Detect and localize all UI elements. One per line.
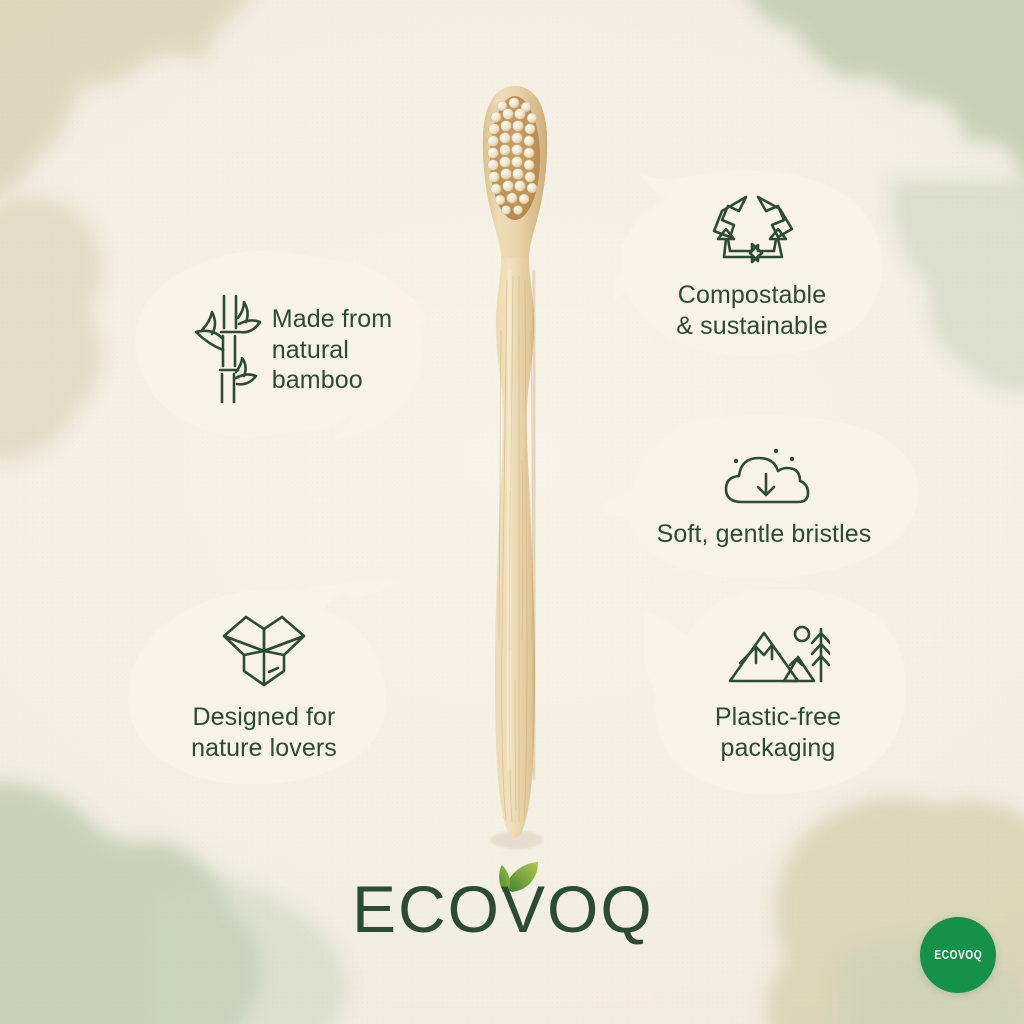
callout-designed-for-nature-lovers[interactable]: Designed for nature lovers — [124, 578, 404, 794]
callout-label: Designed for nature lovers — [191, 702, 337, 763]
callout-soft-gentle-bristles[interactable]: Soft, gentle bristles — [604, 412, 924, 582]
callout-made-from-natural-bamboo[interactable]: Made from natural bamboo — [128, 250, 428, 450]
brand-logo: ECOVOQ — [352, 862, 682, 948]
bamboo-stalk-icon — [190, 288, 266, 413]
callout-label: Plastic-free packaging — [715, 702, 841, 763]
callout-label: Soft, gentle bristles — [657, 519, 872, 550]
open-box-icon — [216, 609, 312, 696]
logo-wordmark: ECOVOQ — [352, 872, 654, 946]
callout-label: Made from natural bamboo — [272, 304, 392, 396]
callout-compostable-sustainable[interactable]: Compostable & sustainable — [612, 168, 892, 362]
callout-plastic-free-packaging[interactable]: Plastic-free packaging — [644, 586, 912, 798]
recycle-icon — [706, 189, 798, 274]
mountain-tree-sun-icon — [726, 621, 830, 696]
ecovoq-badge[interactable]: ECOVOQ — [920, 917, 996, 993]
bamboo-toothbrush — [455, 80, 575, 855]
badge-label: ECOVOQ — [934, 948, 982, 962]
callout-label: Compostable & sustainable — [676, 280, 827, 341]
cloud-download-icon — [716, 444, 812, 515]
infographic-canvas: Made from natural bamboo Compostable & s… — [0, 0, 1024, 1024]
